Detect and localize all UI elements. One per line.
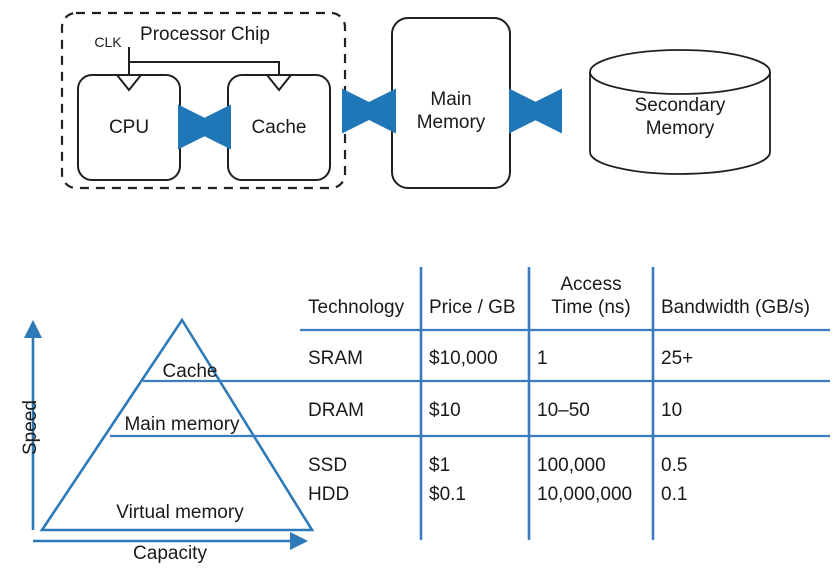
pyramid-tier-cache: Cache [163, 361, 218, 383]
table-cell-bandwidth: 25+ [661, 347, 693, 370]
pyramid-tier-virtual-memory: Virtual memory [116, 502, 243, 524]
table-cell-price: $1 [429, 454, 450, 477]
secondary-memory-label-line2: Memory [646, 117, 715, 140]
processor-chip-title: Processor Chip [140, 24, 270, 46]
table-header-access-time-line1: Access [560, 273, 621, 296]
secondary-memory-label-line1: Secondary [635, 94, 726, 117]
main-memory-label-line2: Memory [417, 111, 486, 134]
figure-vector-layer [0, 0, 836, 576]
table-header-price: Price / GB [429, 296, 516, 319]
clock-net [129, 47, 279, 75]
table-header-technology: Technology [308, 296, 404, 319]
table-cell-access-time: 10,000,000 [537, 483, 632, 506]
capacity-axis-label: Capacity [133, 543, 207, 565]
pyramid-tier-main-memory: Main memory [124, 414, 239, 436]
table-cell-technology: SSD [308, 454, 347, 477]
table-cell-price: $0.1 [429, 483, 466, 506]
table-cell-access-time: 1 [537, 347, 548, 370]
cpu-label: CPU [109, 116, 149, 139]
table-header-access-time-line2: Time (ns) [551, 296, 631, 319]
figure-root: Processor Chip CLK CPU Cache Main Memory… [0, 0, 836, 576]
table-cell-technology: SRAM [308, 347, 363, 370]
main-memory-label-line1: Main [430, 88, 471, 111]
table-cell-bandwidth: 0.1 [661, 483, 687, 506]
table-cell-price: $10,000 [429, 347, 498, 370]
table-cell-bandwidth: 0.5 [661, 454, 687, 477]
table-cell-access-time: 100,000 [537, 454, 606, 477]
clock-label: CLK [94, 34, 121, 50]
table-cell-price: $10 [429, 399, 461, 422]
table-cell-access-time: 10–50 [537, 399, 590, 422]
table-cell-bandwidth: 10 [661, 399, 682, 422]
table-header-bandwidth: Bandwidth (GB/s) [661, 296, 810, 319]
cache-label: Cache [252, 116, 307, 139]
speed-axis-label: Speed [20, 400, 42, 455]
table-cell-technology: HDD [308, 483, 349, 506]
table-cell-technology: DRAM [308, 399, 364, 422]
